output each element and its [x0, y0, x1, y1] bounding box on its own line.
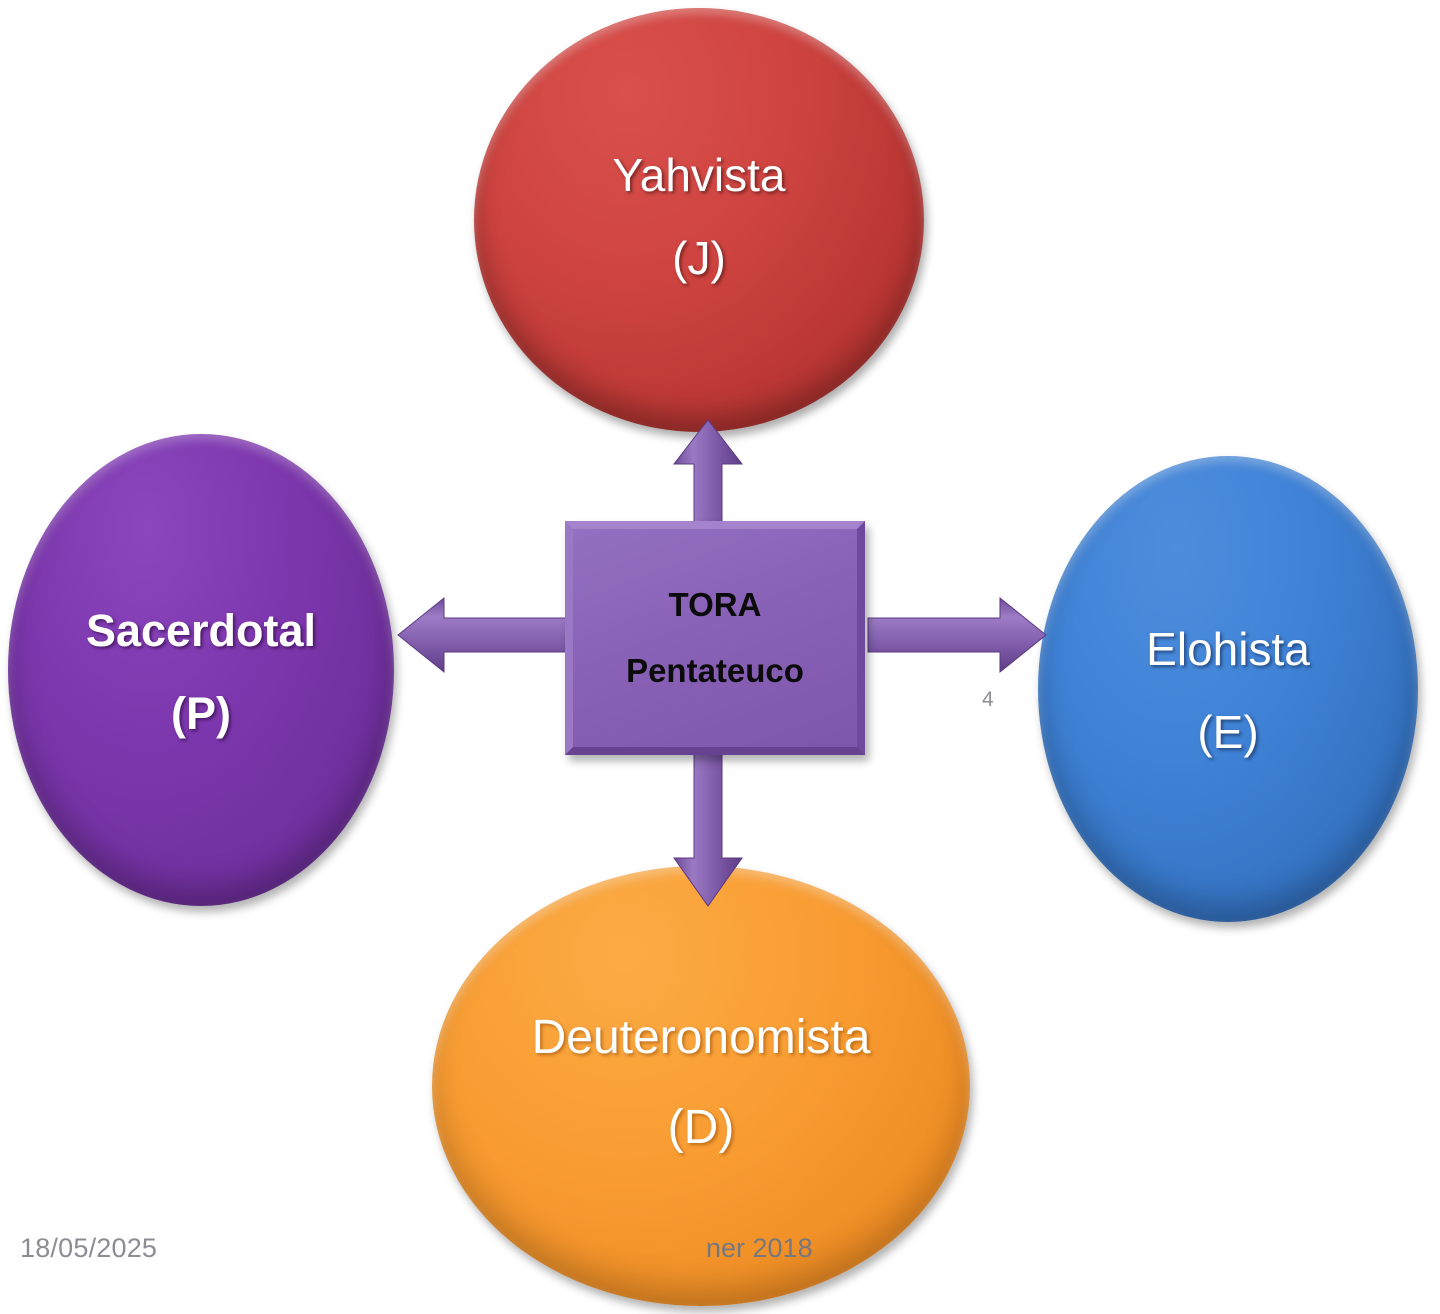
slide-canvas: Yahvista (J) Sacerdotal (P) Elohista (E)…	[0, 0, 1440, 1314]
node-elohista-code: (E)	[1146, 699, 1310, 766]
node-elohista[interactable]: Elohista (E)	[1038, 456, 1418, 922]
node-sacerdotal-code: (P)	[86, 681, 316, 746]
node-elohista-title: Elohista	[1146, 616, 1310, 683]
arrow-right-to-elohista	[866, 596, 1048, 674]
node-sacerdotal-title: Sacerdotal	[86, 598, 316, 663]
footer-date: 18/05/2025	[20, 1233, 157, 1264]
node-sacerdotal[interactable]: Sacerdotal (P)	[8, 434, 394, 906]
arrow-down-to-deuteronomista	[672, 740, 744, 908]
node-yahvista-code: (J)	[612, 225, 785, 292]
slide-number: 4	[982, 688, 994, 712]
footer-credit: ner 2018	[706, 1233, 813, 1264]
node-elohista-label: Elohista (E)	[1146, 616, 1310, 765]
node-deuteronomista-code: (D)	[532, 1093, 871, 1163]
center-box-label: TORA Pentateuco	[626, 585, 804, 690]
arrow-left-to-sacerdotal	[396, 596, 578, 674]
center-tora-pentateuco-box[interactable]: TORA Pentateuco	[565, 521, 865, 755]
node-sacerdotal-label: Sacerdotal (P)	[86, 598, 316, 747]
node-yahvista[interactable]: Yahvista (J)	[474, 8, 924, 432]
node-deuteronomista-title: Deuteronomista	[532, 1003, 871, 1073]
node-deuteronomista-label: Deuteronomista (D)	[532, 1003, 871, 1162]
center-box-title: TORA	[626, 585, 804, 625]
center-box-subtitle: Pentateuco	[626, 651, 804, 691]
arrow-up-to-yahvista	[672, 418, 744, 536]
node-yahvista-label: Yahvista (J)	[612, 142, 785, 291]
node-deuteronomista[interactable]: Deuteronomista (D)	[432, 866, 970, 1306]
node-yahvista-title: Yahvista	[612, 142, 785, 209]
